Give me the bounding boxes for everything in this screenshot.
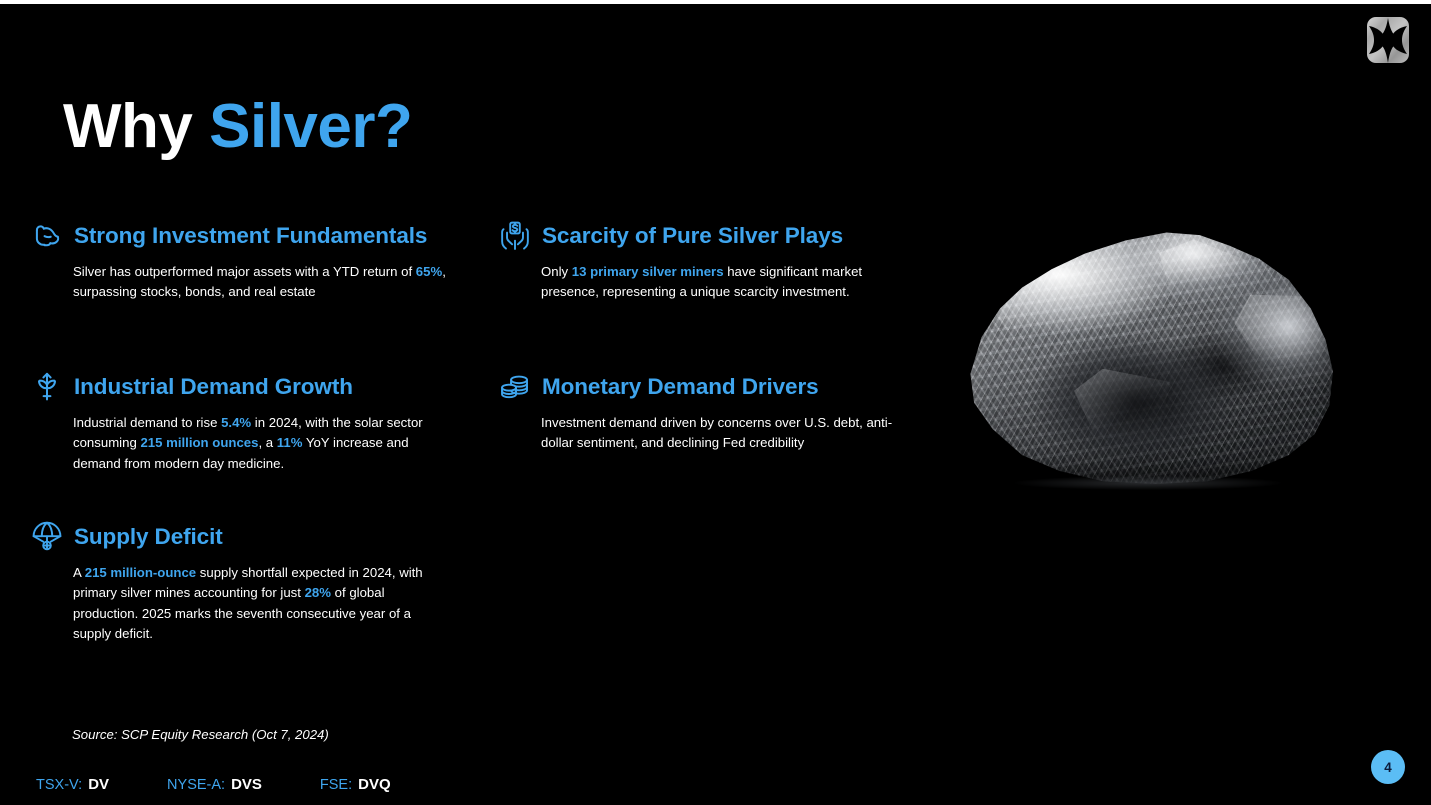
silver-ore-image [963, 222, 1333, 484]
flexed-bicep-icon [30, 219, 64, 253]
ticker-symbol: DV [88, 776, 109, 793]
body-text: Silver has outperformed major assets wit… [73, 264, 416, 279]
ticker-nysea: NYSE-A: DVS [167, 776, 262, 793]
feature-scarcity-of-pure-silver-plays: Scarcity of Pure Silver Plays Only 13 pr… [498, 218, 898, 303]
coin-stack-icon [498, 370, 532, 404]
feature-industrial-demand-growth: Industrial Demand Growth Industrial dema… [30, 369, 450, 474]
ticker-fse: FSE: DVQ [320, 776, 391, 793]
body-text: Investment demand driven by concerns ove… [541, 415, 892, 450]
ticker-symbol: DVQ [358, 776, 391, 793]
body-text: Only [541, 264, 572, 279]
body-highlight: 5.4% [221, 415, 251, 430]
ticker-symbol: DVS [231, 776, 262, 793]
ticker-exchange: FSE: [320, 777, 352, 793]
parachute-icon [30, 520, 64, 554]
feature-title: Monetary Demand Drivers [542, 374, 819, 400]
ticker-bar: TSX-V: DV NYSE-A: DVS FSE: DVQ [36, 776, 391, 793]
silver-ore-body [963, 222, 1333, 484]
ore-facet [985, 259, 1096, 348]
feature-body: Investment demand driven by concerns ove… [541, 413, 898, 454]
feature-strong-investment-fundamentals: Strong Investment Fundamentals Silver ha… [30, 218, 450, 303]
body-highlight: 11% [277, 435, 303, 450]
feature-title: Strong Investment Fundamentals [74, 223, 427, 249]
source-note: Source: SCP Equity Research (Oct 7, 2024… [72, 727, 329, 742]
page-title-part-2: Silver? [209, 92, 412, 161]
top-edge-strip [0, 0, 1431, 4]
feature-header: Supply Deficit [30, 519, 450, 555]
feature-header: Monetary Demand Drivers [498, 369, 898, 405]
hands-holding-dollar-icon [498, 219, 532, 253]
feature-body: Silver has outperformed major assets wit… [73, 262, 450, 303]
ore-facet [1074, 369, 1170, 442]
feature-supply-deficit: Supply Deficit A 215 million-ounce suppl… [30, 519, 450, 644]
feature-monetary-demand-drivers: Monetary Demand Drivers Investment deman… [498, 369, 898, 454]
sprout-growth-icon [30, 370, 64, 404]
body-highlight: 215 million-ounce [85, 565, 196, 580]
body-text: A [73, 565, 85, 580]
feature-body: Only 13 primary silver miners have signi… [541, 262, 898, 303]
feature-body: Industrial demand to rise 5.4% in 2024, … [73, 413, 450, 474]
page-number-badge: 4 [1371, 750, 1405, 784]
feature-header: Industrial Demand Growth [30, 369, 450, 405]
company-logo [1363, 14, 1413, 67]
ore-shadow [1015, 476, 1281, 490]
slide-why-silver: Why Silver? Strong Investment Fundamenta… [0, 0, 1431, 805]
body-highlight: 215 million ounces [140, 435, 258, 450]
ticker-exchange: TSX-V: [36, 777, 82, 793]
page-title-part-1: Why [63, 92, 209, 161]
feature-title: Scarcity of Pure Silver Plays [542, 223, 843, 249]
feature-header: Scarcity of Pure Silver Plays [498, 218, 898, 254]
body-highlight: 13 primary silver miners [572, 264, 724, 279]
feature-body: A 215 million-ounce supply shortfall exp… [73, 563, 450, 644]
feature-title: Supply Deficit [74, 524, 223, 550]
page-title: Why Silver? [63, 94, 412, 159]
feature-title: Industrial Demand Growth [74, 374, 353, 400]
body-highlight: 65% [416, 264, 442, 279]
body-text: , a [258, 435, 276, 450]
body-text: Industrial demand to rise [73, 415, 221, 430]
body-highlight: 28% [305, 585, 331, 600]
feature-header: Strong Investment Fundamentals [30, 218, 450, 254]
ticker-exchange: NYSE-A: [167, 777, 225, 793]
ticker-tsxv: TSX-V: DV [36, 776, 109, 793]
